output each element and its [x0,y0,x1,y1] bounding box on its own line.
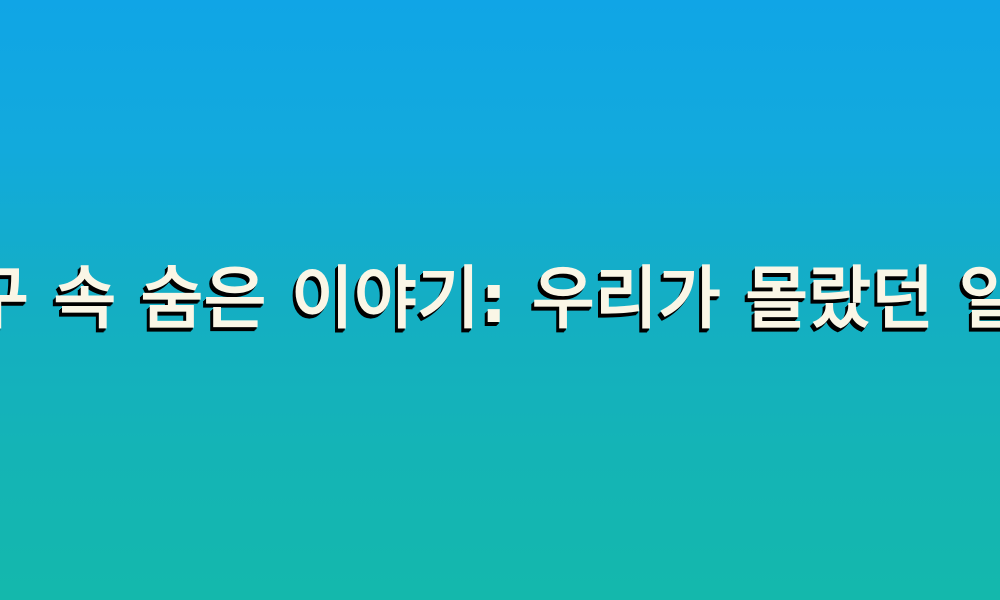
headline-text: 수구 속 숨은 이야기: 우리가 몰랐던 일상 [0,263,1000,338]
headline-container: 수구 속 숨은 이야기: 우리가 몰랐던 일상 [0,263,1000,338]
banner-canvas: 수구 속 숨은 이야기: 우리가 몰랐던 일상 [0,0,1000,600]
